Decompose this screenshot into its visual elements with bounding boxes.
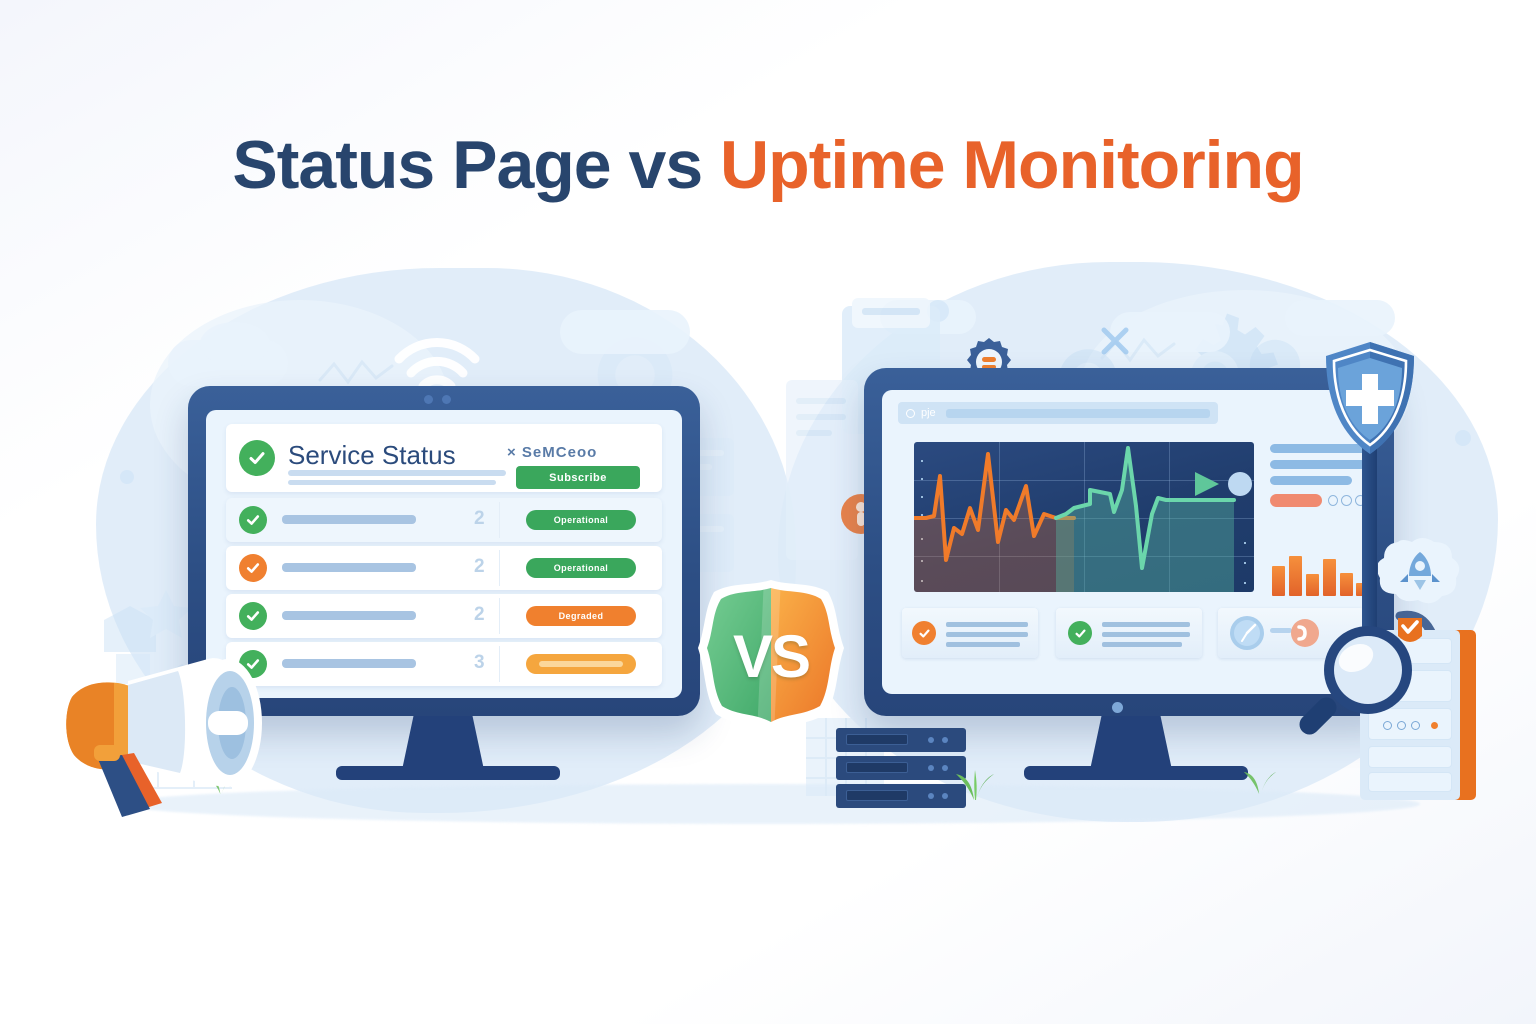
status-badge: Degraded	[526, 606, 636, 626]
check-circle-icon	[912, 621, 936, 645]
placeholder-bar	[282, 563, 416, 572]
status-pill	[1270, 494, 1322, 507]
status-badge: Operational	[526, 510, 636, 530]
play-triangle-icon	[1192, 470, 1222, 498]
megaphone-icon	[58, 625, 328, 820]
webcam-icon	[442, 395, 451, 404]
grass-tuft	[1240, 760, 1280, 794]
monitor-base	[336, 766, 560, 780]
sparkle-icon	[1094, 320, 1138, 364]
placeholder-bar	[539, 661, 623, 667]
browser-url-text: pje	[921, 407, 936, 419]
browser-address-bar[interactable]: pje	[898, 402, 1218, 424]
placeholder-bar	[946, 409, 1210, 418]
bar	[1289, 556, 1302, 596]
usage-bar-chart	[1270, 520, 1366, 596]
gauge-icon	[1228, 614, 1266, 652]
status-card[interactable]	[902, 608, 1038, 658]
ring-icon	[1341, 495, 1352, 506]
title-part-uptime-monitoring: Uptime Monitoring	[720, 127, 1304, 203]
browser-dot-icon	[906, 409, 915, 418]
page-title: Status Page vs Uptime Monitoring	[0, 126, 1536, 204]
column-divider	[499, 646, 500, 682]
server-stack-icon	[836, 728, 966, 810]
service-status-header-card: Service Status × SeMCeoo Subscribe	[226, 424, 662, 492]
cloud-icon	[1285, 300, 1395, 336]
bar	[1323, 559, 1336, 596]
dot-decoration	[120, 470, 134, 484]
vs-label: VS	[686, 576, 856, 736]
row-count: 2	[474, 556, 485, 578]
monitor-base	[1024, 766, 1248, 780]
subscribe-button[interactable]: Subscribe	[516, 466, 640, 489]
cloud-icon	[200, 322, 270, 366]
chart-series-green	[914, 442, 1254, 592]
table-row[interactable]: 2 Operational	[226, 546, 662, 590]
placeholder-bar	[282, 611, 416, 620]
status-badge: Operational	[526, 558, 636, 578]
ring-icon	[1328, 495, 1338, 506]
list-item[interactable]	[1368, 772, 1452, 792]
title-part-status-page: Status Page vs	[232, 127, 720, 203]
power-led-icon	[1112, 702, 1123, 713]
rocket-icon	[1378, 530, 1462, 608]
webcam-icon	[424, 395, 433, 404]
column-divider	[499, 502, 500, 538]
check-circle-icon	[1068, 621, 1092, 645]
column-divider	[499, 550, 500, 586]
status-dot	[1431, 722, 1438, 729]
connector-line	[1270, 628, 1292, 633]
placeholder-bar	[282, 515, 416, 524]
placeholder-bar	[1270, 476, 1352, 485]
dot-circle-icon	[1228, 472, 1252, 496]
status-badge	[526, 654, 636, 674]
column-divider	[499, 598, 500, 634]
dashboard-sidebar	[1270, 440, 1366, 596]
response-time-chart	[914, 442, 1254, 592]
check-circle-icon	[239, 554, 267, 582]
shield-cross-icon	[1320, 338, 1420, 458]
bar	[1340, 573, 1353, 596]
row-count: 3	[474, 652, 485, 674]
status-card[interactable]	[1056, 608, 1202, 658]
background-document-card	[786, 380, 876, 570]
dot-decoration	[1455, 430, 1471, 446]
placeholder-bar	[288, 470, 506, 476]
vs-badge: VS	[686, 576, 856, 736]
row-count: 2	[474, 604, 485, 626]
illustration-canvas: Status Page vs Uptime Monitoring	[0, 0, 1536, 1024]
cloud-icon	[560, 310, 690, 354]
monitor-neck	[402, 716, 484, 770]
check-circle-icon	[239, 440, 275, 476]
bar	[1306, 574, 1319, 596]
bar	[1272, 566, 1285, 596]
magnifier-icon	[1292, 620, 1420, 750]
service-brand-label: × SeMCeoo	[507, 444, 597, 461]
grass-tuft	[952, 760, 998, 800]
placeholder-bar	[1270, 460, 1366, 469]
monitor-neck	[1090, 716, 1172, 770]
service-status-title: Service Status	[288, 440, 456, 471]
table-row[interactable]: 2 Operational	[226, 498, 662, 542]
placeholder-bar	[288, 480, 496, 485]
check-circle-icon	[239, 506, 267, 534]
row-count: 2	[474, 508, 485, 530]
